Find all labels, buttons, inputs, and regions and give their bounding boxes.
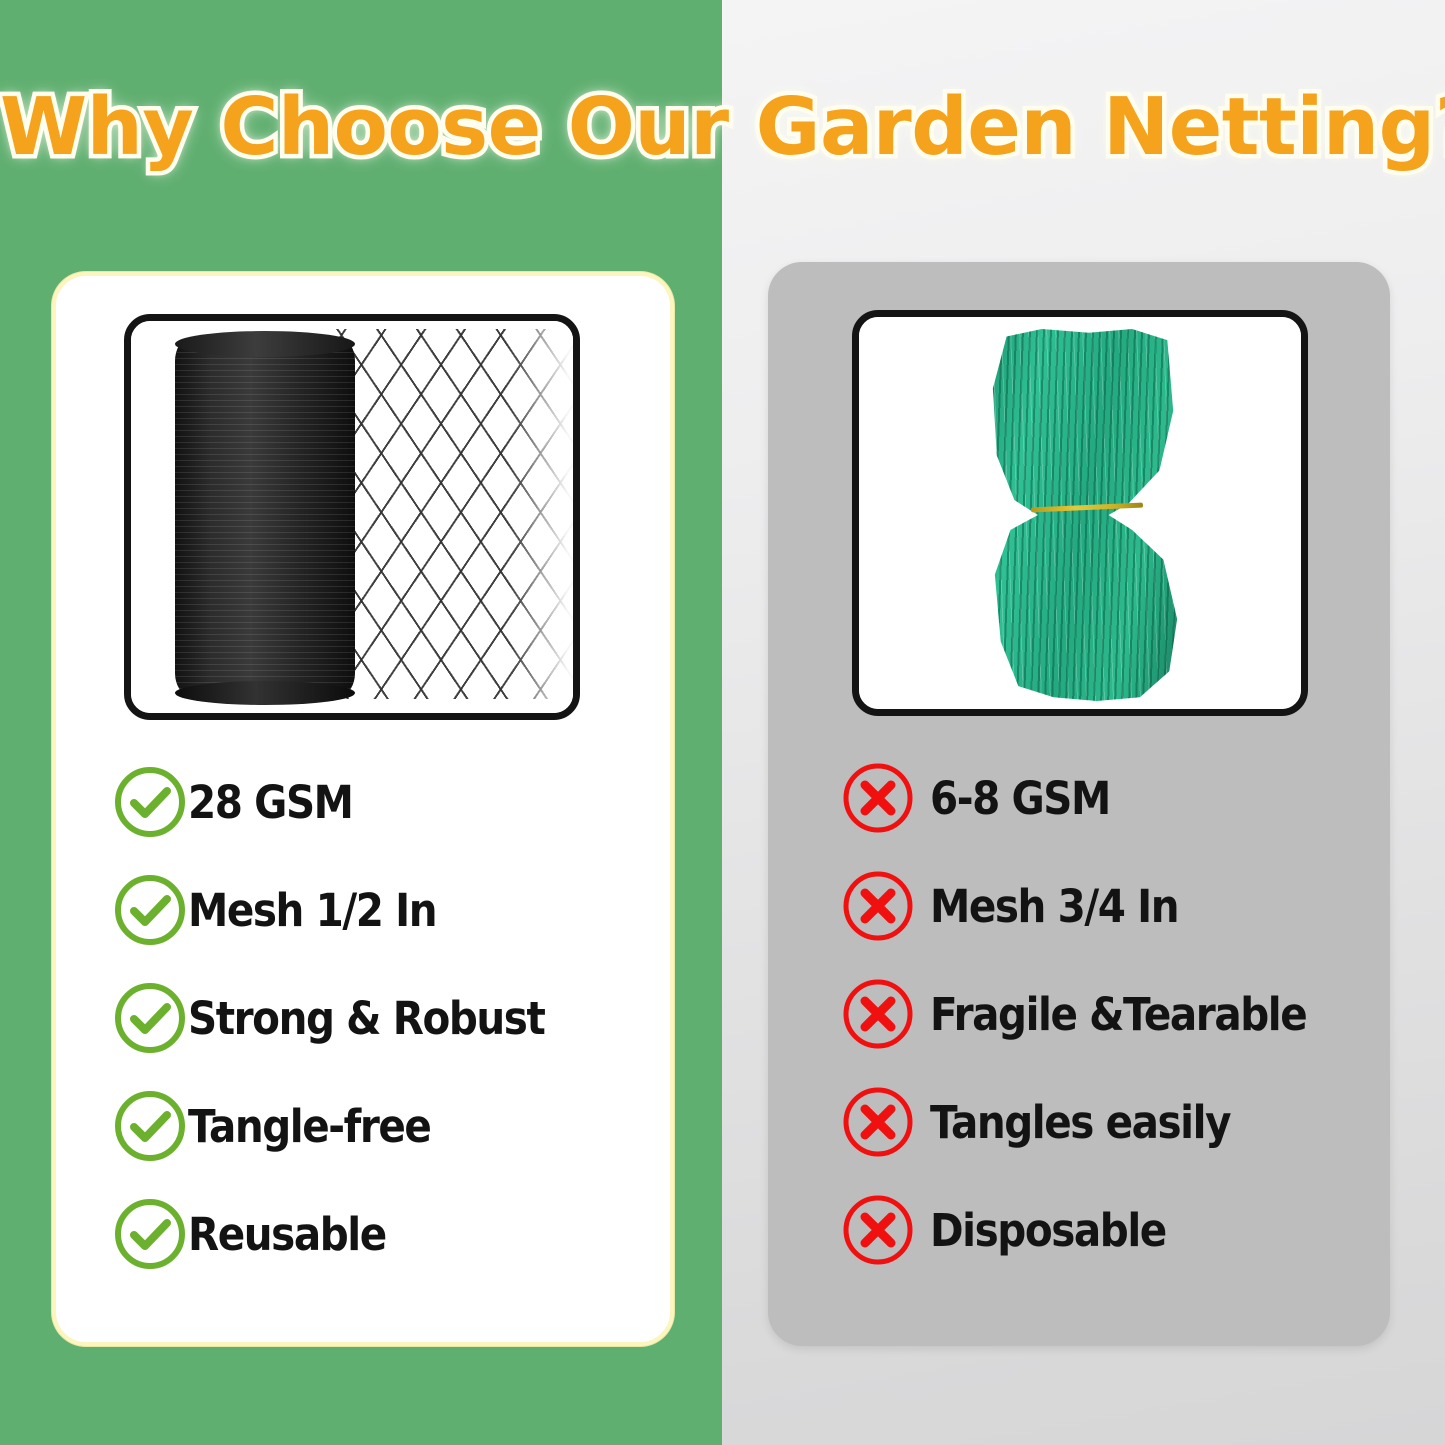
feature-row: Disposable xyxy=(840,1176,1445,1284)
feature-label: Mesh 3/4 In xyxy=(930,884,1178,929)
feature-label: 28 GSM xyxy=(188,780,353,825)
check-circle-icon xyxy=(112,872,188,948)
competitor-product-photo-frame xyxy=(852,310,1308,716)
feature-label: Strong & Robust xyxy=(188,996,544,1041)
netting-roll-body xyxy=(175,339,355,695)
netting-roll-bottom-ellipse xyxy=(175,681,355,705)
mesh-fade-overlay xyxy=(511,321,580,720)
green-netting-bundle-photo xyxy=(859,317,1301,709)
feature-label: Reusable xyxy=(188,1212,386,1257)
feature-label: Fragile &Tearable xyxy=(930,992,1306,1037)
feature-label: Mesh 1/2 In xyxy=(188,888,436,933)
cross-circle-icon xyxy=(840,760,916,836)
feature-row: 28 GSM xyxy=(112,748,726,856)
netting-bundle-body xyxy=(987,329,1183,701)
feature-row: Fragile &Tearable xyxy=(840,960,1445,1068)
competitor-feature-list: 6-8 GSM Mesh 3/4 In Fr xyxy=(768,744,1445,1284)
check-circle-icon xyxy=(112,980,188,1056)
our-product-feature-list: 28 GSM Mesh 1/2 In Str xyxy=(56,748,726,1288)
feature-label: 6-8 GSM xyxy=(930,776,1110,821)
cross-circle-icon xyxy=(840,1192,916,1268)
feature-row: Mesh 1/2 In xyxy=(112,856,726,964)
feature-label: Tangles easily xyxy=(930,1100,1230,1145)
cross-circle-icon xyxy=(840,868,916,944)
feature-label: Disposable xyxy=(930,1208,1166,1253)
feature-row: Tangle-free xyxy=(112,1072,726,1180)
cross-circle-icon xyxy=(840,1084,916,1160)
check-circle-icon xyxy=(112,1088,188,1164)
black-netting-roll-photo xyxy=(131,321,573,713)
page-title: Why Choose Our Garden Netting? xyxy=(0,88,1445,167)
feature-row: Tangles easily xyxy=(840,1068,1445,1176)
netting-roll-top-ellipse xyxy=(175,331,355,357)
our-product-card: 28 GSM Mesh 1/2 In Str xyxy=(52,272,674,1346)
feature-row: Reusable xyxy=(112,1180,726,1288)
cross-circle-icon xyxy=(840,976,916,1052)
feature-row: Strong & Robust xyxy=(112,964,726,1072)
feature-row: Mesh 3/4 In xyxy=(840,852,1445,960)
check-circle-icon xyxy=(112,764,188,840)
feature-row: 6-8 GSM xyxy=(840,744,1445,852)
feature-label: Tangle-free xyxy=(188,1104,430,1149)
comparison-infographic: Why Choose Our Garden Netting? 2 xyxy=(0,0,1445,1445)
headline-container: Why Choose Our Garden Netting? xyxy=(0,88,1445,167)
our-product-photo-frame xyxy=(124,314,580,720)
competitor-product-card: 6-8 GSM Mesh 3/4 In Fr xyxy=(768,262,1390,1346)
check-circle-icon xyxy=(112,1196,188,1272)
